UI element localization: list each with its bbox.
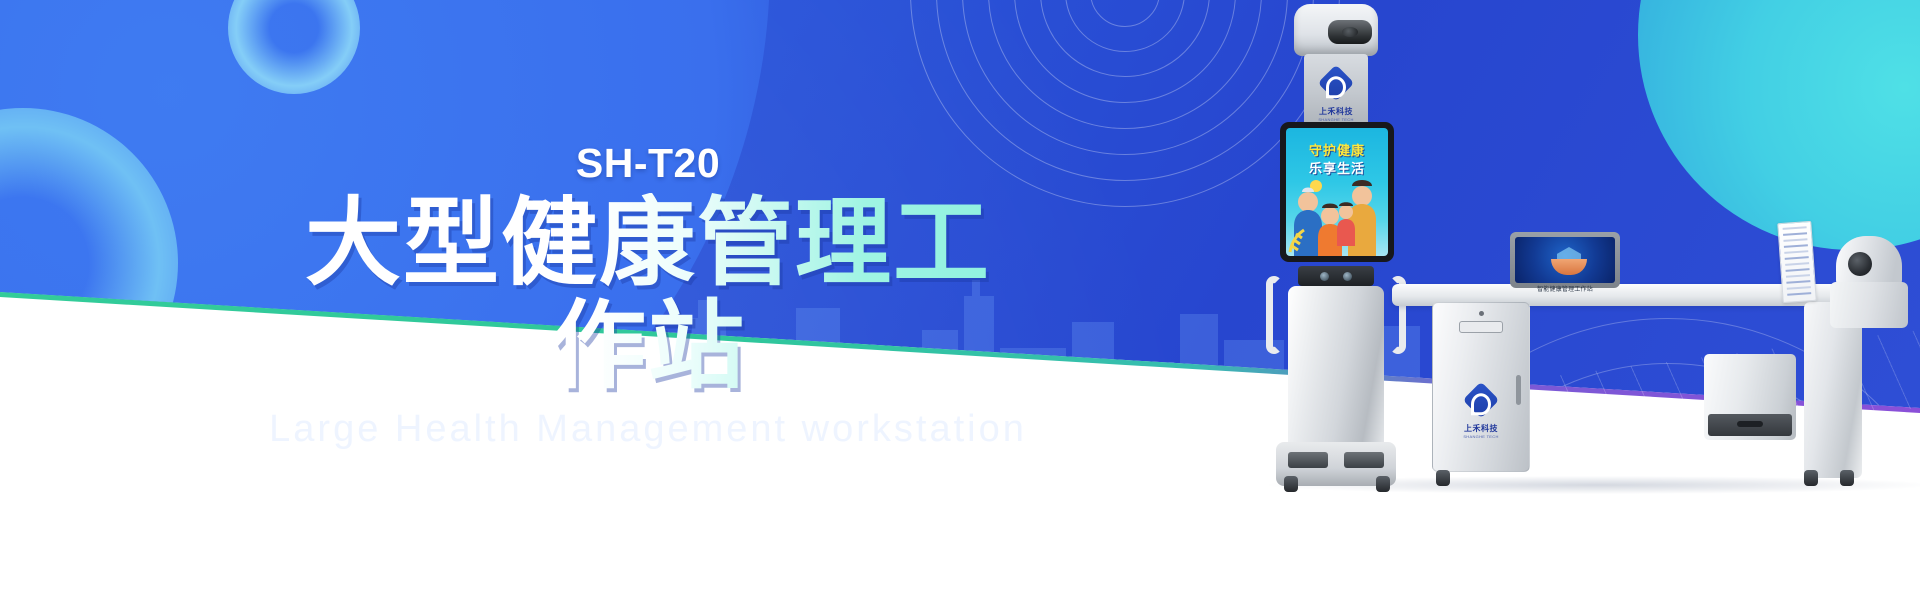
desk-cabinet[interactable]: 上禾科技 SHANGHE TECH [1432, 302, 1530, 472]
desk-caster-far-right [1840, 470, 1854, 486]
desk-right-leg-panel [1804, 302, 1862, 478]
card-reader-slot[interactable] [1459, 321, 1503, 333]
height-sensor-icon [1328, 20, 1372, 44]
workstation-desk: 上禾科技 SHANGHE TECH [1392, 284, 1862, 484]
monitor-screen[interactable] [1515, 237, 1615, 283]
kiosk-body-column [1288, 286, 1384, 446]
kiosk-head [1294, 4, 1378, 56]
cabinet-logo-en: SHANGHE TECH [1433, 434, 1529, 439]
device-aperture-icon [1848, 252, 1872, 276]
printer-output-tray[interactable] [1708, 414, 1792, 436]
product-hero-banner: SH-T20 大型健康管理工作站 Large Health Management… [0, 0, 1920, 600]
workstation-monitor[interactable]: 智能健康管理工作站 [1510, 232, 1620, 292]
desk-caster-left [1436, 470, 1450, 486]
desk-printer-unit[interactable] [1704, 354, 1796, 440]
blood-pressure-device[interactable] [1830, 236, 1908, 328]
desk-caster-right [1804, 470, 1818, 486]
page-title: 大型健康管理工作站 [268, 193, 1028, 398]
foot-pad-right [1344, 452, 1384, 468]
cabinet-brand-logo: 上禾科技 SHANGHE TECH [1433, 387, 1529, 439]
banner-copy: SH-T20 大型健康管理工作站 Large Health Management… [268, 140, 1028, 451]
model-code: SH-T20 [268, 140, 1028, 187]
page-subtitle: Large Health Management workstation [268, 408, 1028, 451]
cabinet-logo-cn: 上禾科技 [1433, 423, 1529, 434]
kiosk-display[interactable]: 守护健康 乐享生活 [1280, 122, 1394, 262]
foot-pad-left [1288, 452, 1328, 468]
kiosk-logo-cn: 上禾科技 [1304, 106, 1368, 117]
brand-mark-icon [1318, 65, 1355, 102]
kiosk-brand-logo: 上禾科技 SHANGHE TECH [1304, 70, 1368, 122]
product-image: 上禾科技 SHANGHE TECH 守护健康 乐享生活 [1020, 0, 1920, 600]
monitor-bezel [1510, 232, 1620, 288]
monitor-caption: 智能健康管理工作站 [1510, 284, 1620, 293]
brand-mark-icon [1463, 382, 1500, 419]
kiosk-display-content: 守护健康 乐享生活 [1286, 128, 1388, 256]
device-base [1830, 282, 1908, 328]
cabinet-indicator-led [1479, 311, 1484, 316]
kiosk-handle-left[interactable] [1266, 276, 1282, 354]
kiosk-camera-bar [1298, 266, 1374, 286]
health-kiosk-tower: 上禾科技 SHANGHE TECH 守护健康 乐享生活 [1278, 4, 1396, 484]
family-illustration [1286, 130, 1388, 256]
printed-report-slip [1777, 221, 1816, 303]
kiosk-neck-panel: 上禾科技 SHANGHE TECH [1304, 54, 1368, 132]
kiosk-caster-right [1376, 476, 1390, 492]
device-arm-cuff [1836, 236, 1902, 288]
caring-hands-icon [1551, 259, 1587, 275]
kiosk-caster-left [1284, 476, 1298, 492]
